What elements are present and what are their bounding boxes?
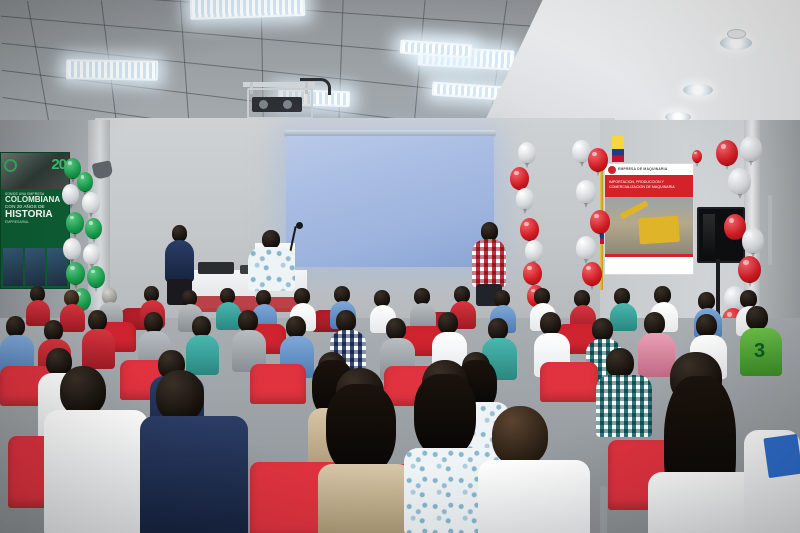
balloon-silver [516, 188, 534, 210]
balloon-silver [83, 244, 100, 265]
colombiana-banner: 20 SOMOS UNA EMPRESA COLOMBIANA CON 20 A… [0, 152, 70, 289]
banner-logo-bar: EMPRESA DE MAQUINARIA [605, 164, 693, 175]
recessed-downlight-icon [683, 84, 713, 96]
banner-bottom-photos [3, 248, 67, 286]
banner-footer [605, 254, 693, 274]
hair [326, 384, 396, 476]
balloon-silver [518, 142, 536, 164]
conference-hall-photo: 20 SOMOS UNA EMPRESA COLOMBIANA CON 20 A… [0, 0, 800, 533]
door-handle[interactable] [768, 195, 772, 265]
banner-line-1: SOMOS UNA EMPRESA [5, 193, 65, 196]
balloon-green [66, 262, 85, 285]
microphone-icon [296, 222, 303, 229]
balloon-silver [740, 136, 762, 162]
balloon-silver [576, 180, 596, 204]
chair-leg [600, 486, 607, 533]
banner-machinery-photo [605, 197, 693, 255]
projector-cable [300, 78, 331, 95]
laptop [198, 262, 234, 274]
balloon-green [66, 212, 84, 234]
balloon-red [582, 262, 602, 286]
balloon-red [692, 150, 702, 163]
balloon-silver [742, 228, 764, 254]
projection-screen [286, 136, 494, 267]
balloon-silver [63, 238, 81, 260]
hair [414, 374, 476, 458]
balloon-red [523, 262, 542, 285]
balloon-silver [62, 184, 79, 205]
balloon-red [510, 167, 529, 190]
balloon-silver [525, 240, 543, 262]
company-logo-icon [608, 166, 616, 174]
balloon-silver [728, 168, 751, 195]
jersey-number: 3 [754, 340, 765, 363]
balloon-red [590, 210, 610, 234]
balloon-green [77, 172, 93, 192]
banner-photo-strip: 20 [1, 153, 69, 189]
company-logo-icon [4, 159, 17, 172]
blue-paper [763, 434, 800, 478]
banner-headline: IMPORTACION, PRODUCCION Y COMERCIALIZACI… [609, 180, 687, 190]
balloon-red [738, 256, 761, 283]
balloon-red [520, 218, 539, 241]
chair[interactable] [540, 362, 598, 402]
banner-logo-text: EMPRESA DE MAQUINARIA [618, 167, 667, 171]
chair[interactable] [250, 364, 306, 404]
balloon-green [85, 218, 102, 239]
balloon-red [716, 140, 738, 166]
balloon-silver [576, 236, 596, 260]
smoke-detector-icon [727, 29, 746, 39]
construction-banner: EMPRESA DE MAQUINARIA IMPORTACION, PRODU… [604, 163, 694, 275]
excavator-arm-icon [619, 200, 648, 219]
excavator-icon [638, 216, 680, 245]
banner-headline-band: IMPORTACION, PRODUCCION Y COMERCIALIZACI… [605, 175, 693, 197]
ceiling-light-panel [66, 59, 158, 81]
balloon-red [588, 148, 608, 172]
banner-text-block: SOMOS UNA EMPRESA COLOMBIANA CON 20 AÑOS… [5, 193, 65, 225]
banner-line-5: EMPRESARIAL [5, 221, 65, 225]
ceiling-projector [252, 97, 302, 112]
colombian-flag-icon [612, 136, 624, 162]
balloon-green [87, 266, 105, 288]
balloon-silver [82, 192, 100, 214]
